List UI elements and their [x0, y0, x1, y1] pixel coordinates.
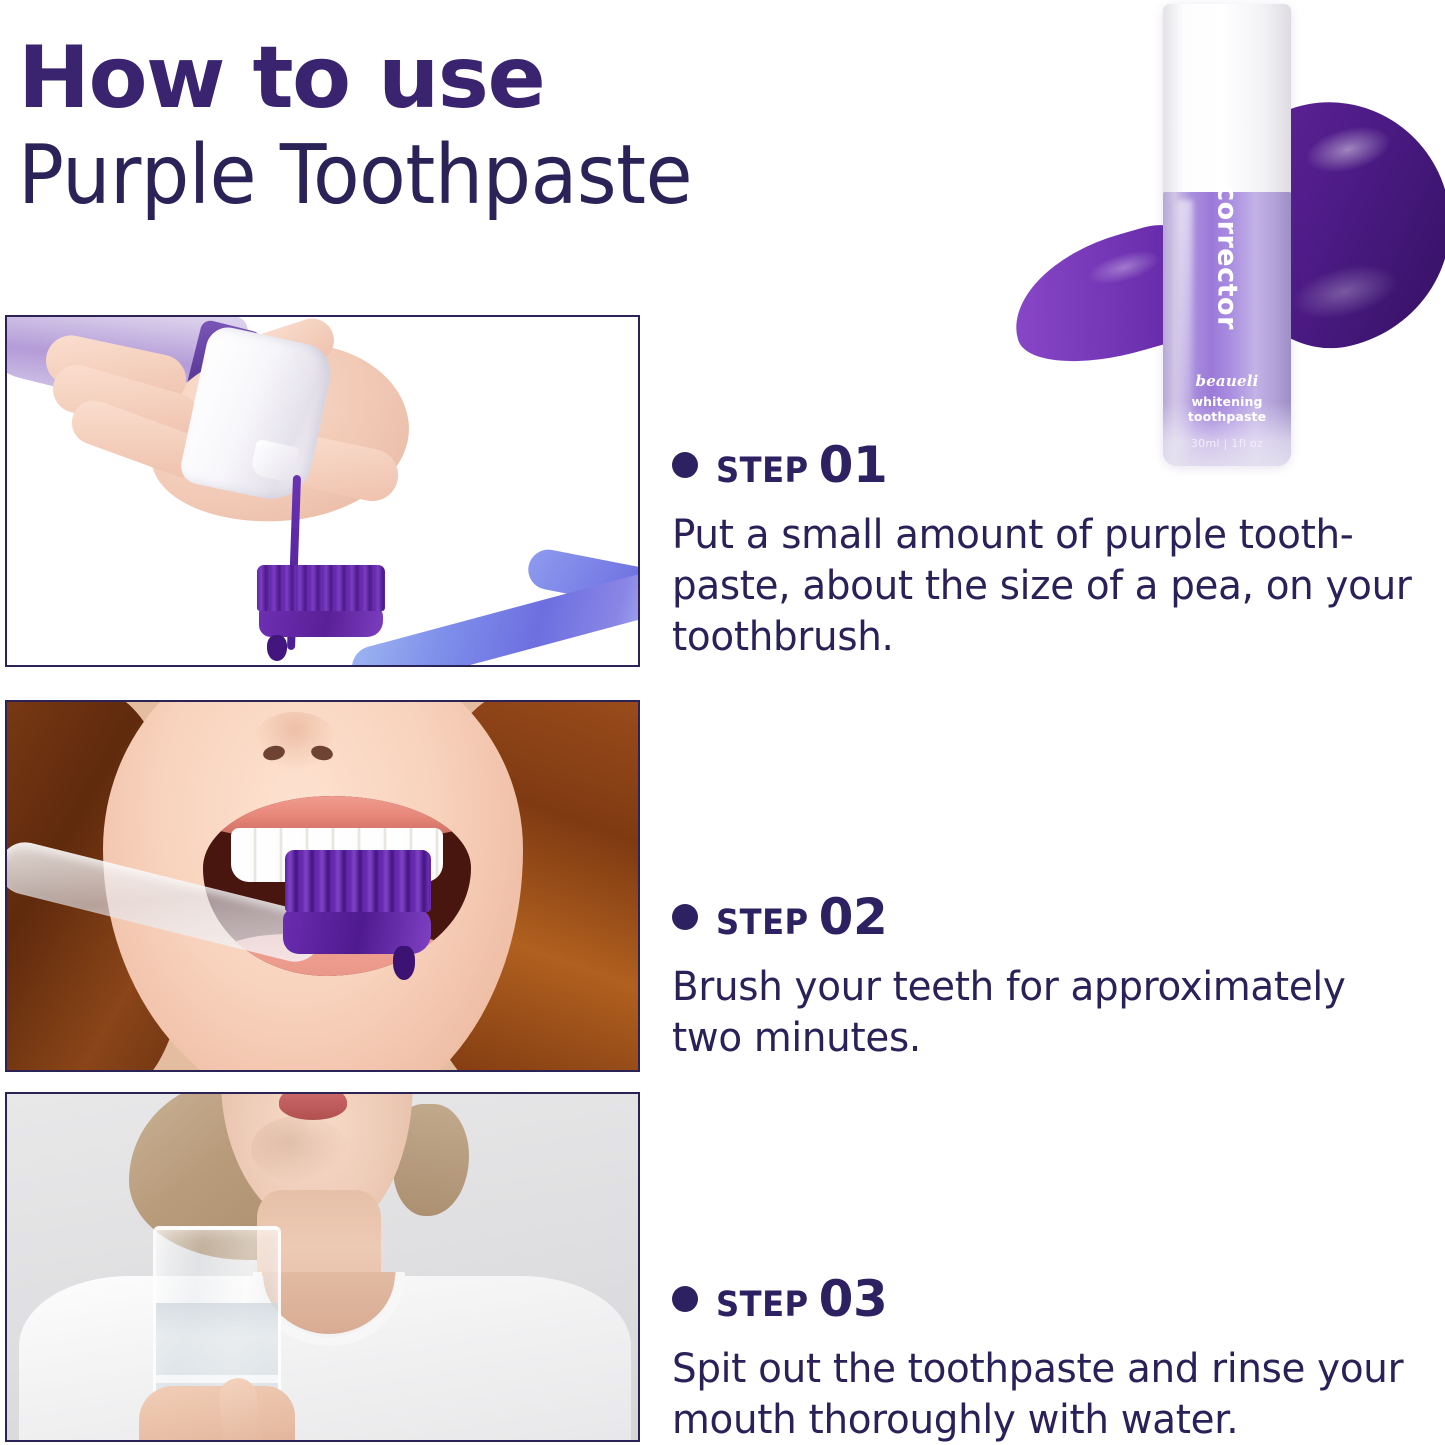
photo-scene-squeeze [7, 317, 638, 665]
nose [253, 712, 337, 770]
step-3-number: 03 [819, 1270, 888, 1328]
product-name-vertical-label: corrector [1212, 185, 1243, 330]
water-surface-line [156, 1375, 278, 1383]
step-2-heading: STEP 02 [672, 888, 1440, 946]
step-3-body: Spit out the toothpaste and rinse your m… [672, 1344, 1417, 1445]
header: How to use Purple Toothpaste [18, 36, 918, 218]
page-subtitle: Purple Toothpaste [18, 134, 855, 218]
bottle-cap [1163, 4, 1291, 194]
step-2-text: STEP 02 Brush your teeth for approximate… [672, 888, 1440, 1064]
product-bottle: corrector beaueli whitening toothpaste 3… [1163, 4, 1291, 466]
bullet-dot-icon [672, 904, 698, 930]
step-3-word: STEP [716, 1285, 809, 1325]
step-1-number: 01 [819, 436, 888, 494]
step-1-text: STEP 01 Put a small amount of purple too… [672, 436, 1440, 664]
step-1-heading: STEP 01 [672, 436, 1440, 494]
step-1-body: Put a small amount of purple tooth-paste… [672, 510, 1417, 664]
photo-scene-rinsing [7, 1094, 638, 1440]
toothbrush-bristles [257, 565, 385, 611]
bullet-dot-icon [672, 1286, 698, 1312]
step-2-number: 02 [819, 888, 888, 946]
toothbrush-bristles [285, 850, 431, 912]
bullet-dot-icon [672, 452, 698, 478]
step-3-heading: STEP 03 [672, 1270, 1440, 1328]
product-volume: 30ml | 1fl oz [1163, 437, 1291, 450]
brand-name: beaueli [1163, 372, 1291, 390]
bottle-label-block: beaueli whitening toothpaste 30ml | 1fl … [1163, 372, 1291, 450]
photo-scene-brushing [7, 702, 638, 1070]
toothpaste-drip [267, 635, 287, 661]
product-hero-image: corrector beaueli whitening toothpaste 3… [1000, 0, 1445, 480]
step-3-photo [5, 1092, 640, 1442]
step-2-word: STEP [716, 903, 809, 943]
step-3-text: STEP 03 Spit out the toothpaste and rins… [672, 1270, 1440, 1445]
step-1-photo [5, 315, 640, 667]
step-2-photo [5, 700, 640, 1072]
step-2-body: Brush your teeth for approximately two m… [672, 962, 1417, 1064]
step-1-word: STEP [716, 451, 809, 491]
toothpaste-drip [393, 946, 415, 980]
puffed-cheek [251, 1116, 347, 1182]
hand-holding-glass [139, 1386, 295, 1442]
page-title: How to use [18, 36, 918, 120]
infographic-page: How to use Purple Toothpaste corrector b… [0, 0, 1445, 1445]
product-tagline: whitening toothpaste [1163, 394, 1291, 424]
